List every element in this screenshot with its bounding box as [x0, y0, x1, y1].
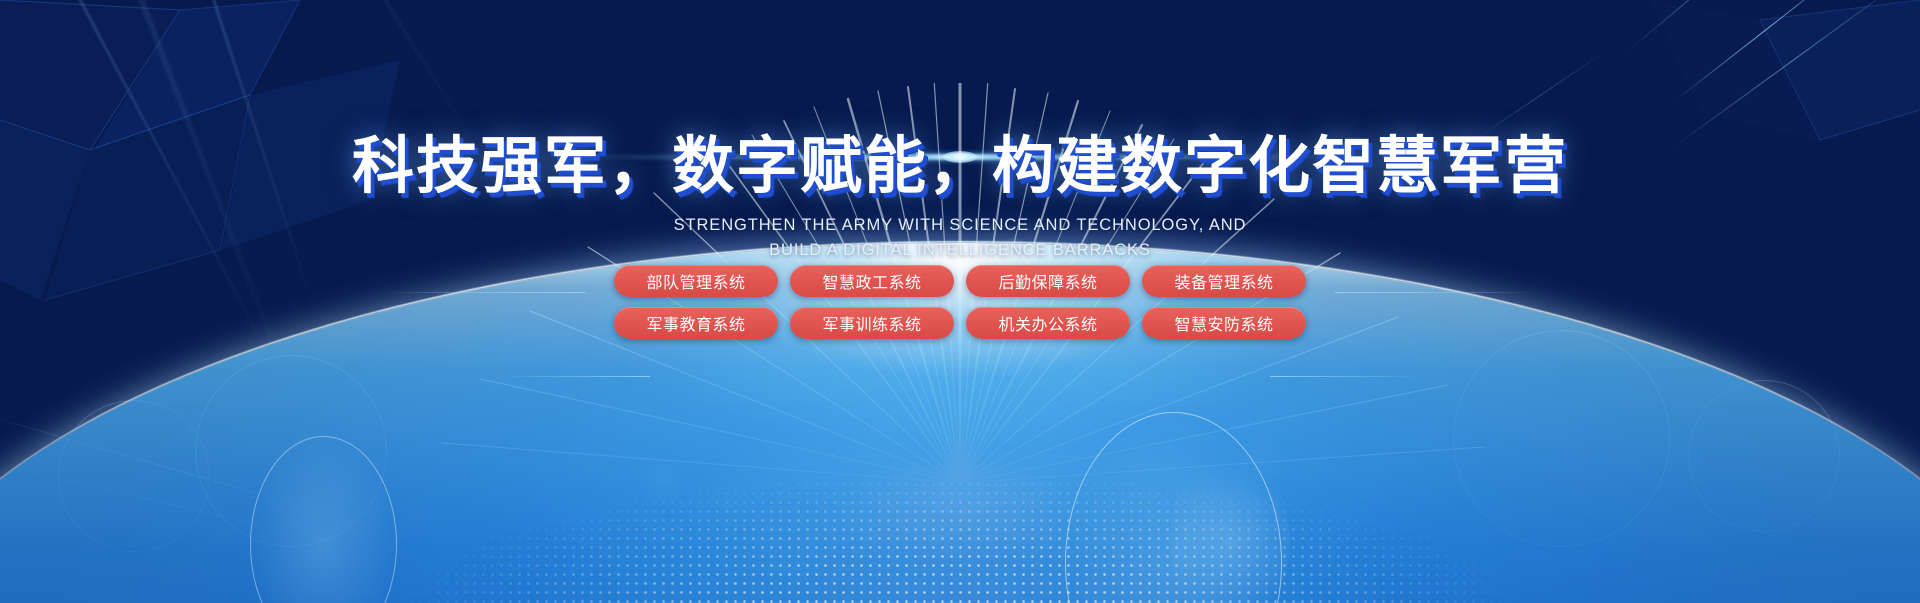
system-pill-button[interactable]: 后勤保障系统	[966, 265, 1130, 297]
system-pill-button[interactable]: 智慧安防系统	[1142, 307, 1306, 339]
system-pill-button[interactable]: 装备管理系统	[1142, 265, 1306, 297]
system-pill-button[interactable]: 军事教育系统	[614, 307, 778, 339]
accent-line-right-lower	[1270, 376, 1420, 377]
accent-line-left-lower	[500, 376, 650, 377]
system-pill-row-2: 军事教育系统 军事训练系统 机关办公系统 智慧安防系统	[614, 307, 1306, 339]
system-pill-row-1: 部队管理系统 智慧政工系统 后勤保障系统 装备管理系统	[614, 265, 1306, 297]
system-pill-button[interactable]: 智慧政工系统	[790, 265, 954, 297]
system-pill-button[interactable]: 机关办公系统	[966, 307, 1130, 339]
page-title: 科技强军，数字赋能，构建数字化智慧军营	[0, 136, 1920, 198]
subtitle-line-1: STRENGTHEN THE ARMY WITH SCIENCE AND TEC…	[0, 213, 1920, 238]
system-pill-button[interactable]: 部队管理系统	[614, 265, 778, 297]
hero-banner: 科技强军，数字赋能，构建数字化智慧军营 STRENGTHEN THE ARMY …	[0, 0, 1920, 603]
system-pill-group: 部队管理系统 智慧政工系统 后勤保障系统 装备管理系统 军事教育系统 军事训练系…	[0, 265, 1920, 339]
banner-subtitle: STRENGTHEN THE ARMY WITH SCIENCE AND TEC…	[0, 213, 1920, 263]
system-pill-button[interactable]: 军事训练系统	[790, 307, 954, 339]
banner-content: 科技强军，数字赋能，构建数字化智慧军营 STRENGTHEN THE ARMY …	[0, 0, 1920, 603]
subtitle-line-2: BUILD A DIGITAL INTELLIGENCE BARRACKS	[0, 238, 1920, 263]
